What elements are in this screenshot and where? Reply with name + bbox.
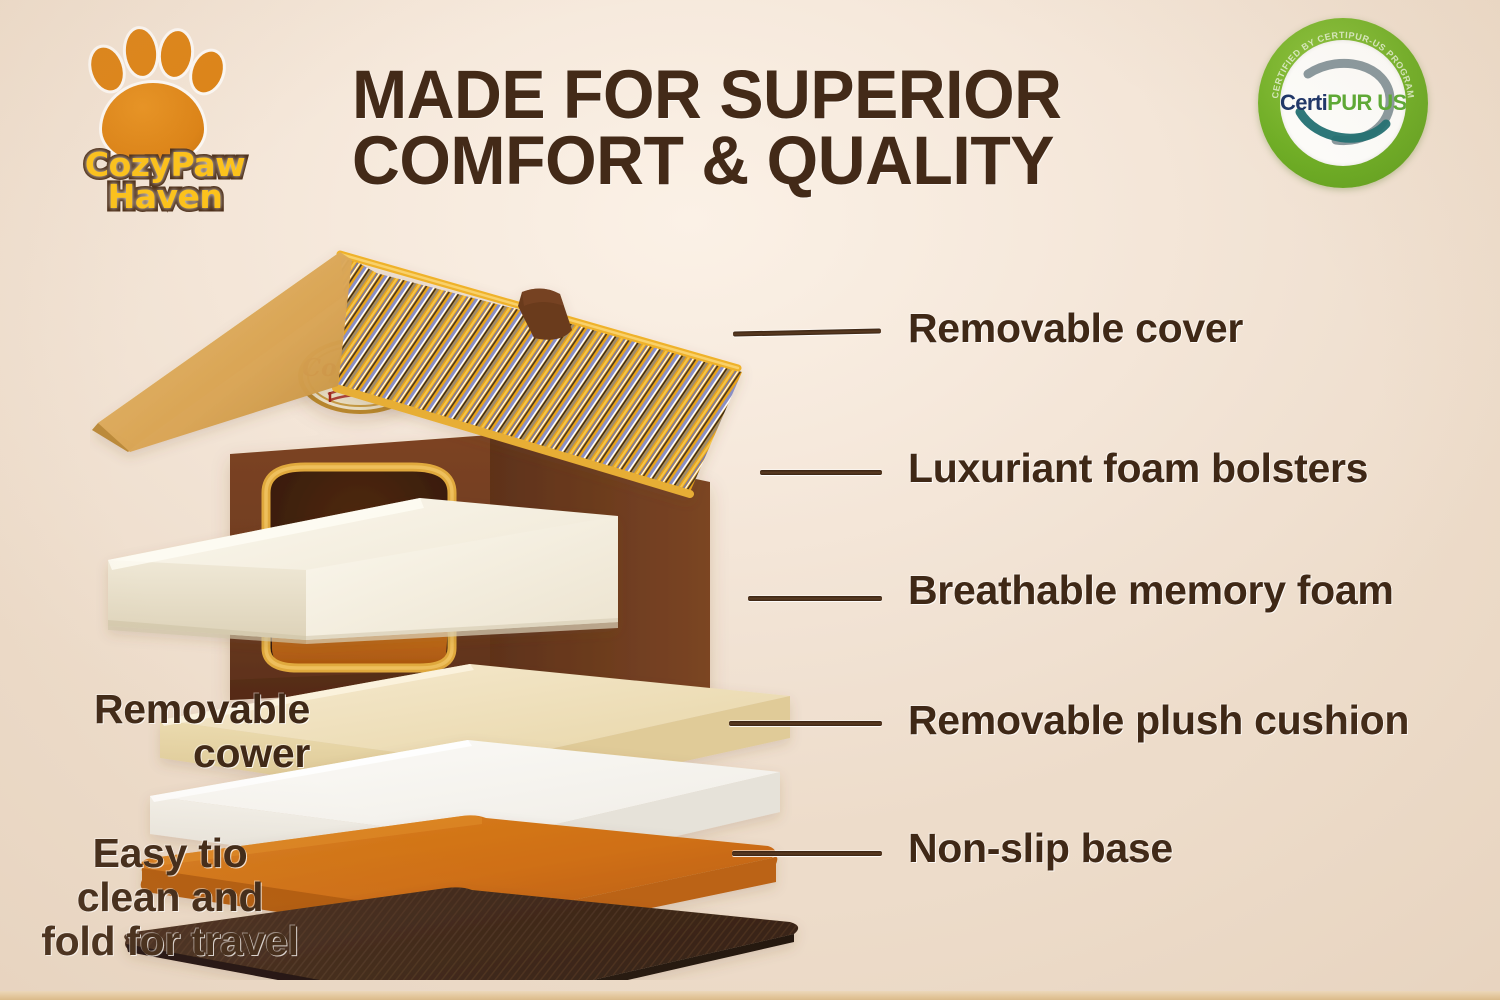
callout-memory-foam: Breathable memory foam (908, 570, 1394, 611)
callout-easy-clean-line2: clean and (20, 876, 320, 920)
callout-nonslip-base: Non-slip base (908, 828, 1173, 869)
callout-easy-clean-line3: fold for travel (20, 920, 320, 964)
headline-line-2: COMFORT & QUALITY (352, 128, 1149, 194)
leader-line-foam-bolsters (760, 470, 882, 475)
memory-foam-cushion (108, 498, 618, 644)
callout-easy-clean: Easy tio clean and fold for travel (20, 832, 320, 964)
callout-removable-cower: Removable cower (20, 688, 310, 776)
callout-removable-cover: Removable cover (908, 308, 1243, 349)
leader-line-memory-foam (748, 596, 882, 601)
badge-wordmark: CertiPUR US (1280, 90, 1406, 116)
leader-line-plush-cushion (729, 721, 882, 726)
paw-toe-icon (158, 29, 193, 78)
callout-foam-bolsters: Luxuriant foam bolsters (908, 448, 1368, 489)
callout-plush-cushion: Removable plush cushion (908, 700, 1409, 741)
headline-line-1: MADE FOR SUPERIOR (352, 62, 1149, 128)
paw-toe-icon (124, 28, 159, 78)
paw-toe-icon (86, 43, 128, 94)
callout-removable-cower-line2: cower (20, 732, 310, 776)
bottom-accent-strip (0, 991, 1500, 1000)
callout-easy-clean-line1: Easy tio (20, 832, 320, 876)
page-title: MADE FOR SUPERIOR COMFORT & QUALITY (352, 62, 1149, 194)
brand-logo: CozyPaw Haven (60, 25, 270, 210)
paw-toe-icon (187, 47, 229, 96)
certipur-us-badge: CERTIFIED BY CERTIPUR-US PROGRAM CERTIFI… (1258, 18, 1428, 188)
leader-line-nonslip-base (732, 851, 882, 856)
badge-inner-disc: CertiPUR US (1280, 40, 1406, 166)
infographic-canvas: CozyPaw Haven MADE FOR SUPERIOR COMFORT … (0, 0, 1500, 1000)
brand-name-line2: Haven (60, 177, 270, 216)
badge-word-certi: Certi (1280, 90, 1327, 115)
badge-word-purus: PUR US (1327, 90, 1406, 115)
callout-removable-cower-line1: Removable (20, 688, 310, 732)
